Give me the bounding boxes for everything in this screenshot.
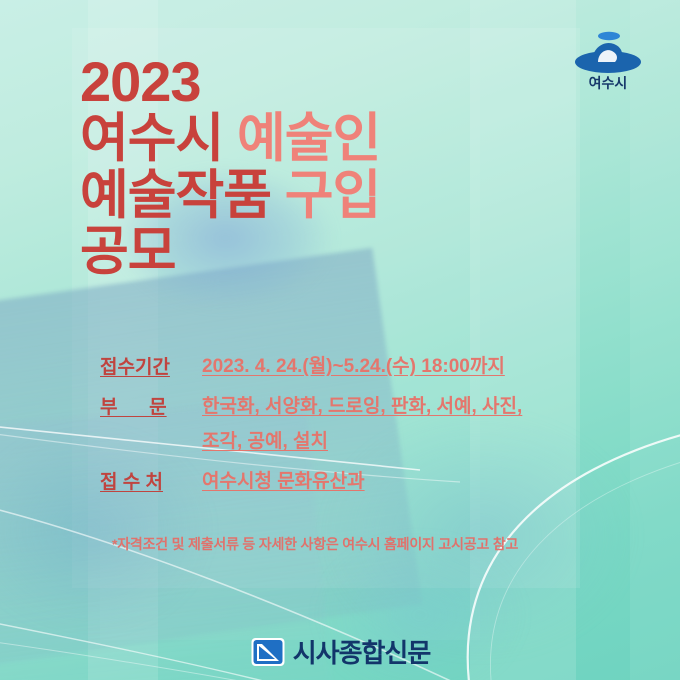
title-line-2-dark: 여수시 [80,109,223,168]
detail-row-category-cont: 조각, 공예, 설치 [100,427,600,456]
detail-label: 접수기간 [100,352,192,379]
newspaper-logo: 시사종합신문 [0,633,680,670]
yeosu-city-mark-icon [562,26,654,76]
detail-row-period: 접수기간 2023. 4. 24.(월)~5.24.(수) 18:00까지 [100,352,600,381]
detail-value: 2023. 4. 24.(월)~5.24.(수) 18:00까지 [202,352,505,381]
city-logo: 여수시 [558,26,658,90]
detail-row-office: 접 수 처 여수시청 문화유산과 [100,467,600,496]
poster-canvas: 여수시 2023 여수시 예술인 예술작품 구입 공모 접수기간 2023. 4… [0,0,680,680]
city-logo-label: 여수시 [558,76,658,90]
title-line-4-dark: 공모 [80,222,176,281]
newspaper-logo-label: 시사종합신문 [293,633,431,670]
title-line-3: 예술작품 구입 [80,168,550,224]
detail-value: 한국화, 서양화, 드로잉, 판화, 서예, 사진, [202,392,522,421]
background-band [630,0,680,680]
title-line-3-light: 구입 [285,166,381,225]
detail-label: 부 문 [100,392,192,419]
title-line-4: 공모 [80,224,550,280]
detail-row-category: 부 문 한국화, 서양화, 드로잉, 판화, 서예, 사진, [100,392,600,421]
title-line-3-dark: 예술작품 [80,166,271,225]
detail-value: 조각, 공예, 설치 [202,427,328,456]
detail-value: 여수시청 문화유산과 [202,467,365,496]
page-title: 2023 여수시 예술인 예술작품 구입 공모 [80,52,550,280]
title-year: 2023 [80,52,550,111]
title-line-2-light: 예술인 [237,109,380,168]
footnote: *자격조건 및 제출서류 등 자세한 사항은 여수시 홈페이지 고시공고 참고 [112,534,632,554]
detail-label: 접 수 처 [100,467,192,494]
open-book-icon [250,636,286,668]
details-list: 접수기간 2023. 4. 24.(월)~5.24.(수) 18:00까지 부 … [100,352,600,508]
title-line-2: 여수시 예술인 [80,111,550,167]
